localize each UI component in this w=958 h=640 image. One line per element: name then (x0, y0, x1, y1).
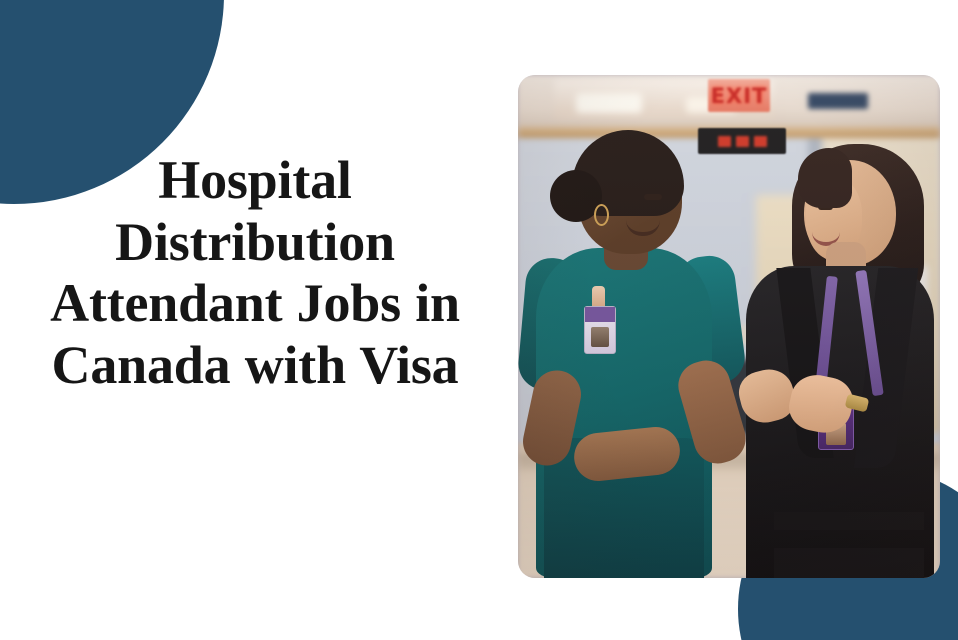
hero-photo: EXIT (518, 75, 940, 578)
professional-hair-front (798, 148, 852, 208)
skirt-stripe-upper (774, 512, 924, 530)
badge-header-band (585, 307, 615, 322)
nurse-id-badge (584, 306, 616, 354)
photo-scene: EXIT (518, 75, 940, 578)
nurse-earring-icon (594, 204, 609, 226)
headline-block: Hospital Distribution Attendant Jobs in … (0, 150, 510, 396)
wall-sign (808, 93, 868, 109)
professional-figure (734, 138, 940, 578)
nurse-figure (522, 108, 740, 578)
nurse-eye (644, 194, 662, 200)
badge-portrait (591, 327, 609, 347)
skirt-stripe-lower (774, 548, 924, 578)
page-title: Hospital Distribution Attendant Jobs in … (0, 150, 510, 396)
poster-canvas: Hospital Distribution Attendant Jobs in … (0, 0, 958, 640)
exit-sign-label: EXIT (711, 84, 768, 108)
